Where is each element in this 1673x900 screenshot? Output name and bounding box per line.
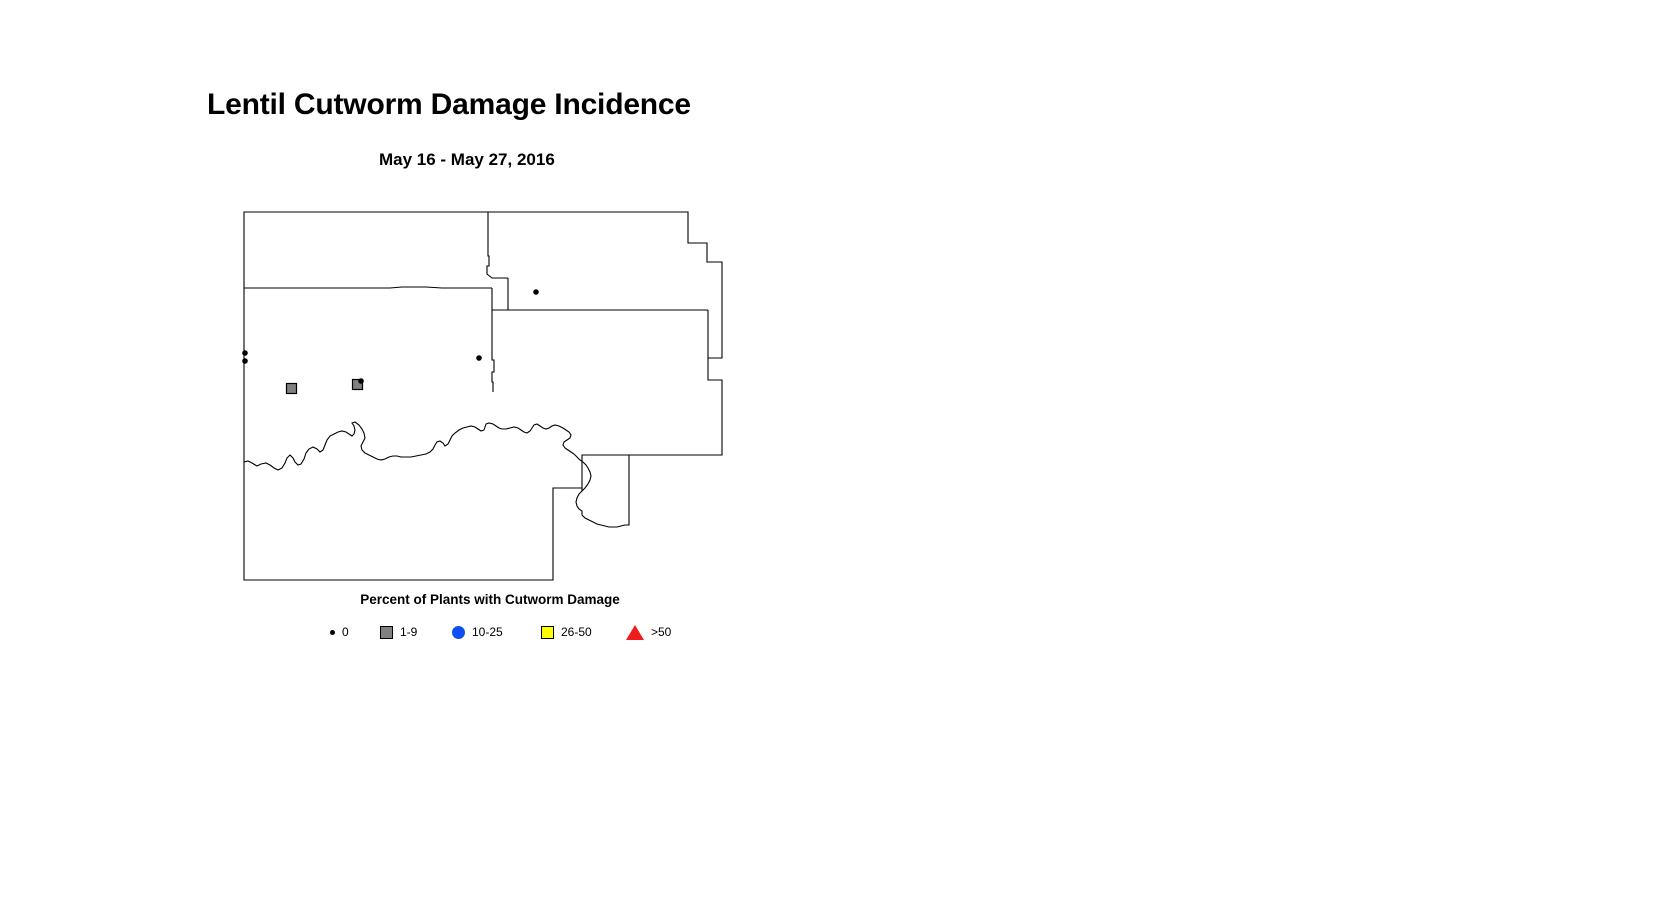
legend-gray-square-icon	[380, 626, 393, 639]
legend-item-label: 10-25	[472, 626, 503, 638]
river-boundary	[244, 422, 629, 527]
legend-items: 0 1-9 10-25 26-50 >50	[230, 620, 750, 644]
county-map	[230, 200, 750, 600]
county-line-north-vertical	[487, 212, 508, 278]
data-point-dot	[242, 358, 248, 364]
region-outer-boundary	[244, 212, 722, 580]
map-figure	[230, 200, 750, 600]
legend-item-label: 0	[342, 626, 349, 638]
data-point-dot	[242, 350, 248, 356]
page-subtitle: May 16 - May 27, 2016	[379, 150, 555, 170]
data-point-square	[287, 384, 297, 394]
legend-blue-circle-icon	[452, 626, 465, 639]
legend-item-1: 1-9	[380, 620, 417, 644]
county-outlines	[244, 212, 722, 580]
legend-title: Percent of Plants with Cutworm Damage	[230, 592, 750, 607]
legend-item-3: 26-50	[541, 620, 592, 644]
legend-yellow-square-icon	[541, 626, 554, 639]
data-point-dot	[358, 378, 364, 384]
legend-item-2: 10-25	[452, 620, 503, 644]
legend-red-triangle-icon	[626, 625, 644, 640]
legend-item-4: >50	[626, 620, 671, 644]
legend-item-label: 26-50	[561, 626, 592, 638]
legend-item-0: 0	[330, 620, 349, 644]
map-page: Lentil Cutworm Damage Incidence May 16 -…	[0, 0, 1673, 900]
county-line-north-west	[244, 287, 492, 288]
county-line-ne-south	[492, 278, 508, 310]
data-point-dot	[476, 355, 482, 361]
data-points	[242, 289, 539, 393]
legend-item-label: >50	[651, 626, 671, 638]
county-line-mid-vertical	[492, 310, 494, 392]
page-title: Lentil Cutworm Damage Incidence	[207, 88, 691, 122]
data-point-dot	[533, 289, 539, 295]
legend-item-label: 1-9	[400, 626, 417, 638]
legend-small-dot-icon	[330, 630, 335, 635]
